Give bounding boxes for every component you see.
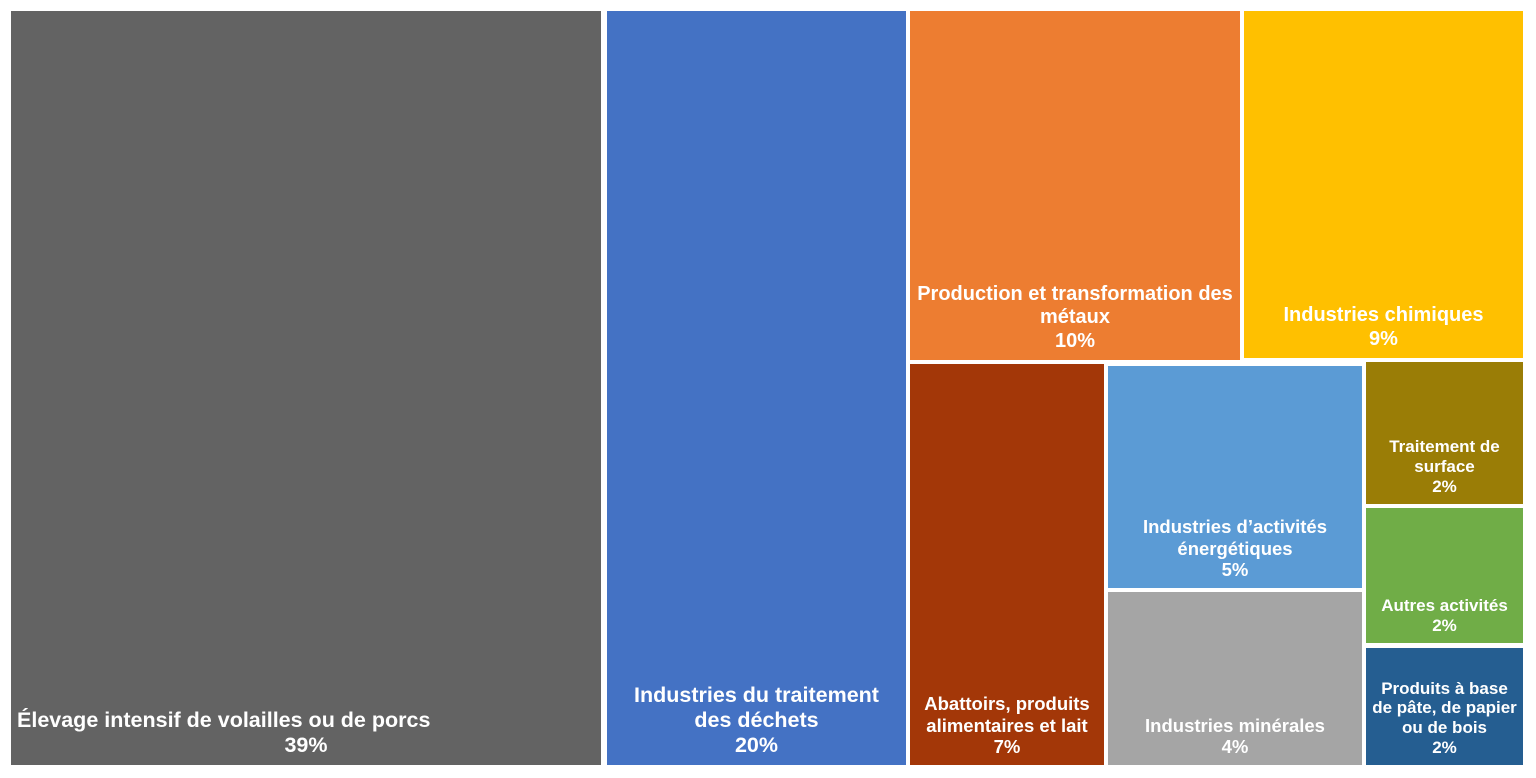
tile-label: Autres activités (1366, 596, 1523, 616)
treemap-tile-traitement-de-surface[interactable]: Traitement de surface 2% (1366, 362, 1523, 504)
tile-label: Industries minérales (1108, 715, 1362, 737)
treemap-tile-produits-pate-papier-bois[interactable]: Produits à base de pâte, de papier ou de… (1366, 648, 1523, 765)
treemap-tile-elevage-intensif[interactable]: Élevage intensif de volailles ou de porc… (11, 11, 601, 765)
tile-value: 39% (11, 733, 601, 765)
treemap-tile-abattoirs-produits-alimentaires-lait[interactable]: Abattoirs, produits alimentaires et lait… (910, 364, 1104, 765)
tile-label: Industries chimiques (1244, 304, 1523, 327)
tile-value: 20% (607, 733, 906, 765)
treemap-tile-industries-activites-energetiques[interactable]: Industries d’activités énergétiques 5% (1108, 366, 1362, 588)
tile-label: Industries du traitement des déchets (607, 683, 906, 733)
tile-value: 7% (910, 736, 1104, 765)
tile-label: Traitement de surface (1366, 437, 1523, 477)
tile-value: 10% (910, 330, 1240, 360)
treemap-chart: Élevage intensif de volailles ou de porc… (0, 0, 1536, 778)
treemap-tile-production-transformation-metaux[interactable]: Production et transformation des métaux … (910, 11, 1240, 360)
tile-label: Industries d’activités énergétiques (1108, 516, 1362, 559)
tile-value: 9% (1244, 328, 1523, 358)
tile-value: 2% (1366, 738, 1523, 765)
treemap-tile-industries-minerales[interactable]: Industries minérales 4% (1108, 592, 1362, 765)
treemap-tile-autres-activites[interactable]: Autres activités 2% (1366, 508, 1523, 643)
tile-value: 2% (1366, 616, 1523, 643)
treemap-tile-industries-chimiques[interactable]: Industries chimiques 9% (1244, 11, 1523, 358)
tile-label: Production et transformation des métaux (910, 283, 1240, 330)
treemap-tile-industries-traitement-dechets[interactable]: Industries du traitement des déchets 20% (607, 11, 906, 765)
tile-value: 4% (1108, 736, 1362, 765)
tile-label: Élevage intensif de volailles ou de porc… (11, 708, 601, 733)
tile-label: Abattoirs, produits alimentaires et lait (910, 693, 1104, 736)
tile-value: 2% (1366, 477, 1523, 504)
tile-label: Produits à base de pâte, de papier ou de… (1366, 679, 1523, 739)
tile-value: 5% (1108, 559, 1362, 588)
